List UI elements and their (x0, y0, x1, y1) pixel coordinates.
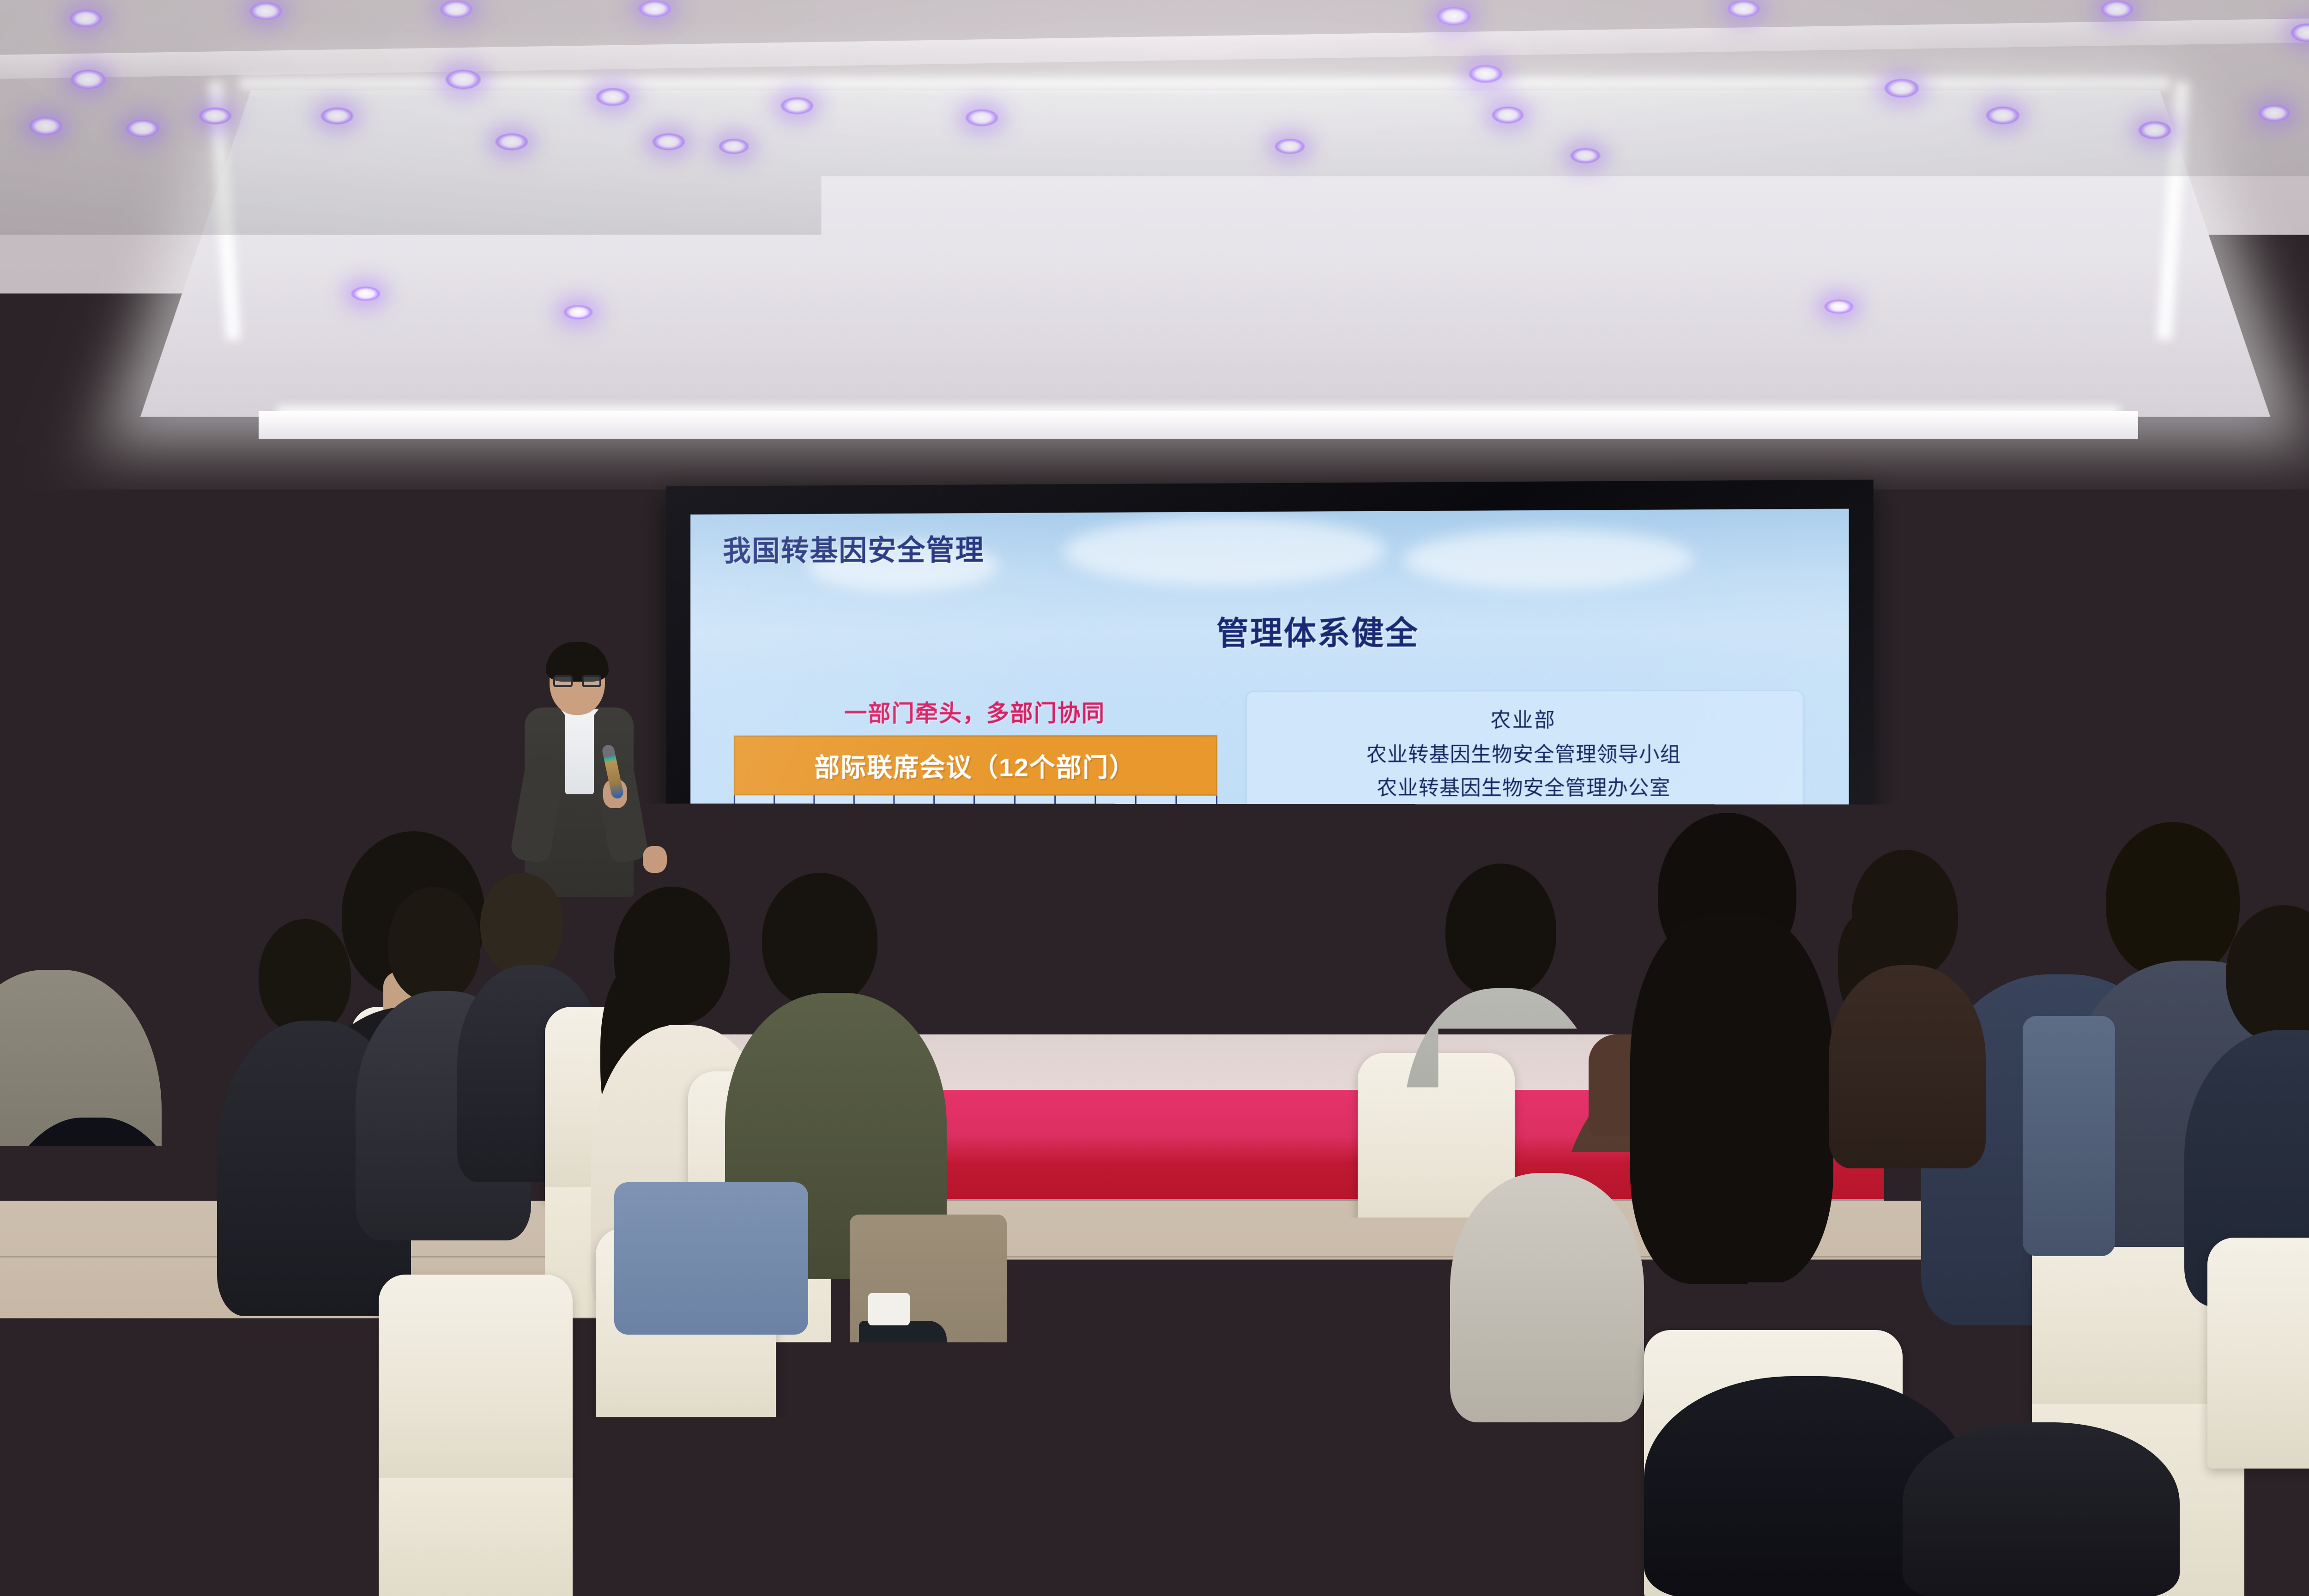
conference-hall-photo: 蛇年 新春 我国转基因安全管理 管理体系健全 一部门牵头，多部门协同 部际联席会… (0, 0, 2309, 1596)
head (480, 873, 563, 974)
hair (1630, 914, 1833, 1284)
head (762, 873, 877, 1007)
department-cell: 卫计委 (1015, 796, 1056, 968)
presenter-other-hand (643, 846, 667, 873)
torso (1450, 1173, 1644, 1422)
glasses-icon (553, 675, 601, 687)
slide-main-title: 管理体系健全 (690, 606, 1849, 656)
knot-bead-drop (1936, 620, 1957, 640)
interministerial-joint-conference-bar: 部际联席会议（12个部门） (734, 735, 1217, 796)
chair (379, 1275, 573, 1492)
department-cell: 食药局 (1136, 796, 1177, 968)
curtain-rail-left (143, 351, 591, 359)
orange-bar-label: 部际联席会议（12个部门） (814, 753, 1136, 782)
chair-skirt (596, 1422, 776, 1596)
tassel-icon (510, 632, 517, 683)
department-cell: 林业局 (1177, 796, 1216, 969)
head (9, 854, 115, 984)
slide-red-caption: 一部门牵头，多部门协同 (734, 695, 1217, 728)
bead-icon (510, 624, 516, 631)
department-cell: 工商局 (1056, 796, 1096, 968)
department-cell: 财政部 (895, 796, 935, 968)
head (388, 887, 480, 1002)
bead-icon (1891, 611, 1897, 618)
moa-line-2: 农业转基因生物安全管理领导小组 (1256, 738, 1793, 768)
presenter-shirt (565, 711, 594, 794)
head (259, 919, 351, 1034)
torso (55, 1385, 342, 1596)
department-cell: 质检局 (1096, 796, 1136, 968)
torso (1829, 965, 1986, 1168)
fan-ornament-icon (1907, 573, 1986, 617)
legs (614, 1182, 808, 1335)
chair-skirt (379, 1478, 573, 1596)
chair-skirt (1395, 1464, 1579, 1596)
curtain-rail-right (1963, 379, 2309, 387)
fan-ornament-icon (526, 586, 605, 630)
sock (868, 1293, 910, 1325)
backpack-strap (2023, 1016, 2115, 1256)
department-cell: 环保部 (935, 796, 975, 968)
torso (1903, 1422, 2180, 1596)
head (1977, 822, 2120, 993)
slide-header-title: 我国转基因安全管理 (723, 527, 984, 569)
moa-line-3: 农业转基因生物安全管理办公室 (1256, 771, 1793, 801)
head (2106, 822, 2240, 979)
moa-line-1: 农业部 (1256, 703, 1793, 733)
department-cell: 商务部 (975, 796, 1015, 968)
chair (2207, 1238, 2309, 1469)
shoe (614, 1510, 716, 1561)
shoe-sole (860, 1349, 946, 1362)
wall-speaker-box (0, 296, 28, 490)
